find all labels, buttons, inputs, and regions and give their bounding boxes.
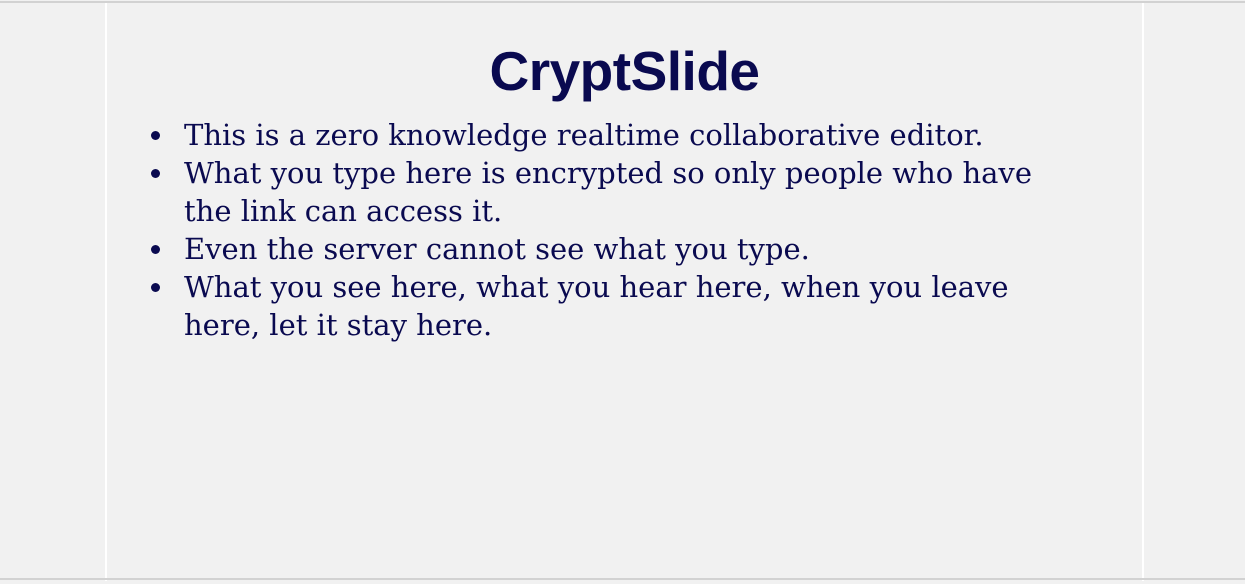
list-item[interactable]: What you see here, what you hear here, w… [147,268,1087,344]
bullet-text: Even the server cannot see what you type… [184,230,1087,268]
slide-content-area: CryptSlide This is a zero knowledge real… [107,3,1142,581]
slide-canvas[interactable]: CryptSlide This is a zero knowledge real… [105,3,1144,581]
bullet-text: What you type here is encrypted so only … [184,154,1087,230]
list-item[interactable]: Even the server cannot see what you type… [147,230,1087,268]
list-item[interactable]: This is a zero knowledge realtime collab… [147,116,1087,154]
bullet-text: This is a zero knowledge realtime collab… [184,116,1087,154]
slide-bullet-list: This is a zero knowledge realtime collab… [147,116,1087,344]
bullet-point-icon [151,131,160,140]
list-item[interactable]: What you type here is encrypted so only … [147,154,1087,230]
slide-title[interactable]: CryptSlide [107,41,1142,101]
bullet-point-icon [151,169,160,178]
bullet-point-icon [151,245,160,254]
bullet-text: What you see here, what you hear here, w… [184,268,1087,344]
bullet-point-icon [151,283,160,292]
page-rule-bottom [0,578,1245,580]
